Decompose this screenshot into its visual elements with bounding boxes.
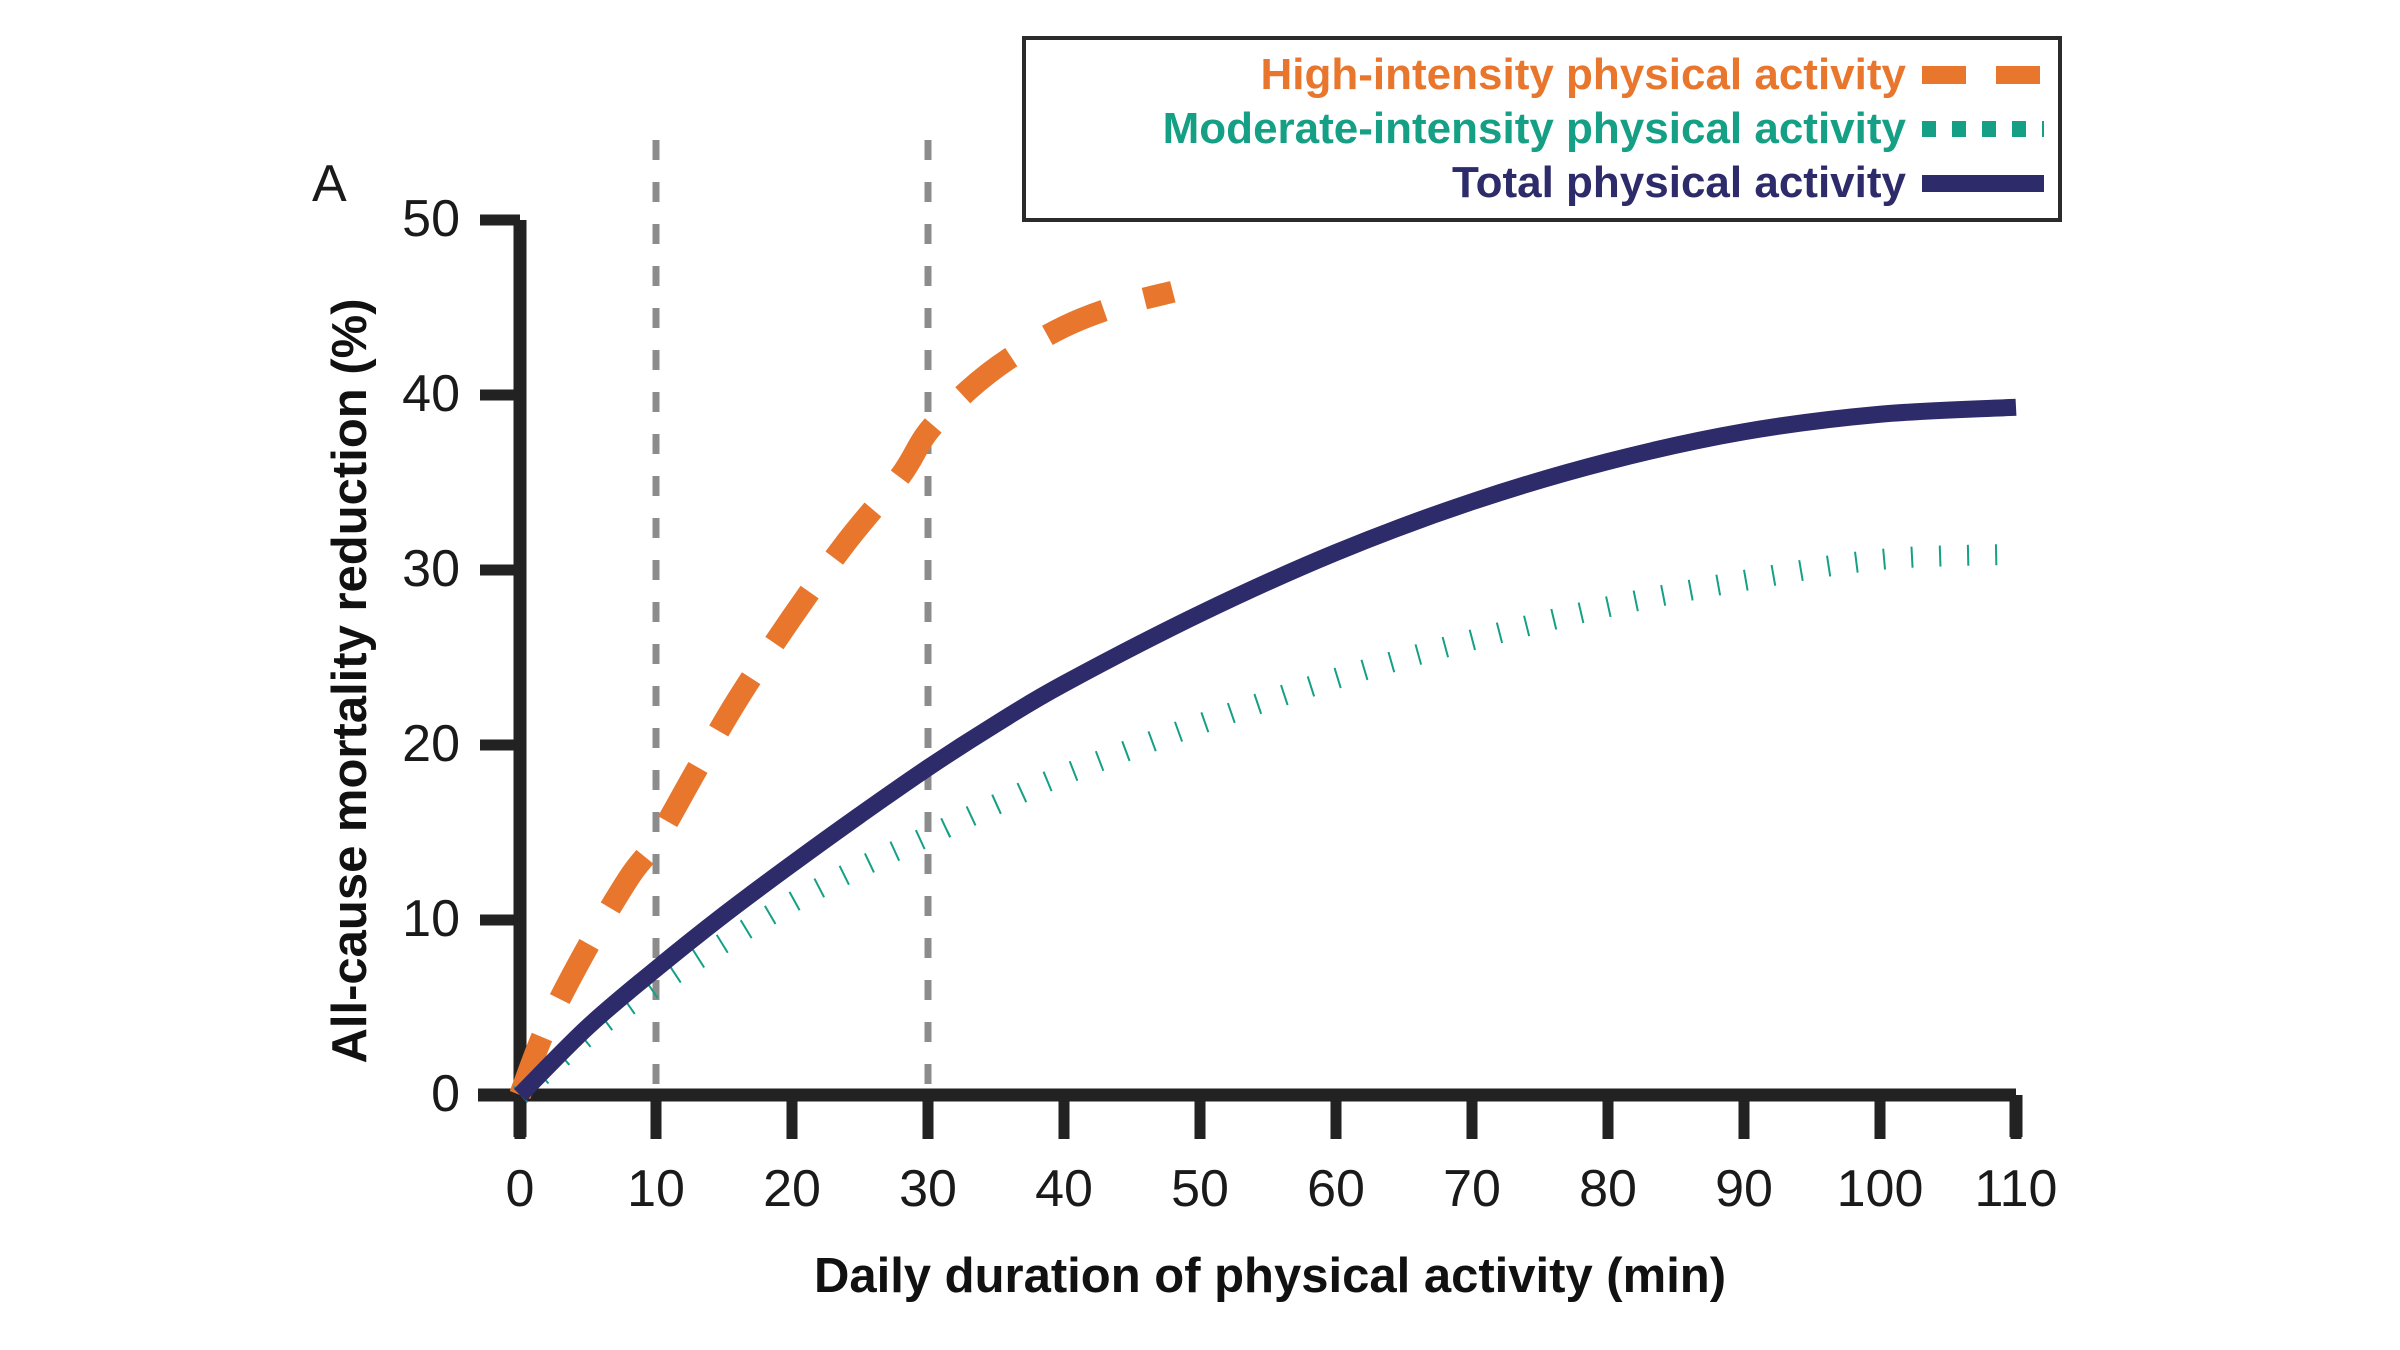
series-line-dotted [520,554,2016,1095]
legend-swatch-dotted-icon [1922,121,2044,137]
y-tick-label-0: 0 [340,1068,460,1120]
y-tick-label-10: 10 [340,893,460,945]
series-line-dashed [520,292,1173,1095]
legend-swatch-dashed-icon [1922,66,2044,84]
x-tick-label-110: 110 [1936,1163,2096,1215]
y-tick-label-50: 50 [340,193,460,245]
legend-item-moderate-intensity[interactable]: Moderate-intensity physical activity [1036,102,2044,156]
y-tick-label-20: 20 [340,718,460,770]
y-tick-label-30: 30 [340,543,460,595]
legend-item-high-intensity[interactable]: High-intensity physical activity [1036,48,2044,102]
legend-label-high-intensity: High-intensity physical activity [1261,53,1907,97]
legend: High-intensity physical activity Moderat… [1022,36,2062,222]
axis-group [478,220,2016,1139]
series-line-solid [520,407,2016,1095]
series-lines [520,292,2016,1095]
legend-item-total[interactable]: Total physical activity [1036,156,2044,210]
legend-label-total: Total physical activity [1452,161,1906,205]
figure-panel-a: A All-cause mortality reduction (%) Dail… [0,0,2400,1350]
y-tick-label-40: 40 [340,368,460,420]
legend-swatch-solid-icon [1922,175,2044,192]
legend-label-moderate-intensity: Moderate-intensity physical activity [1163,107,1906,151]
